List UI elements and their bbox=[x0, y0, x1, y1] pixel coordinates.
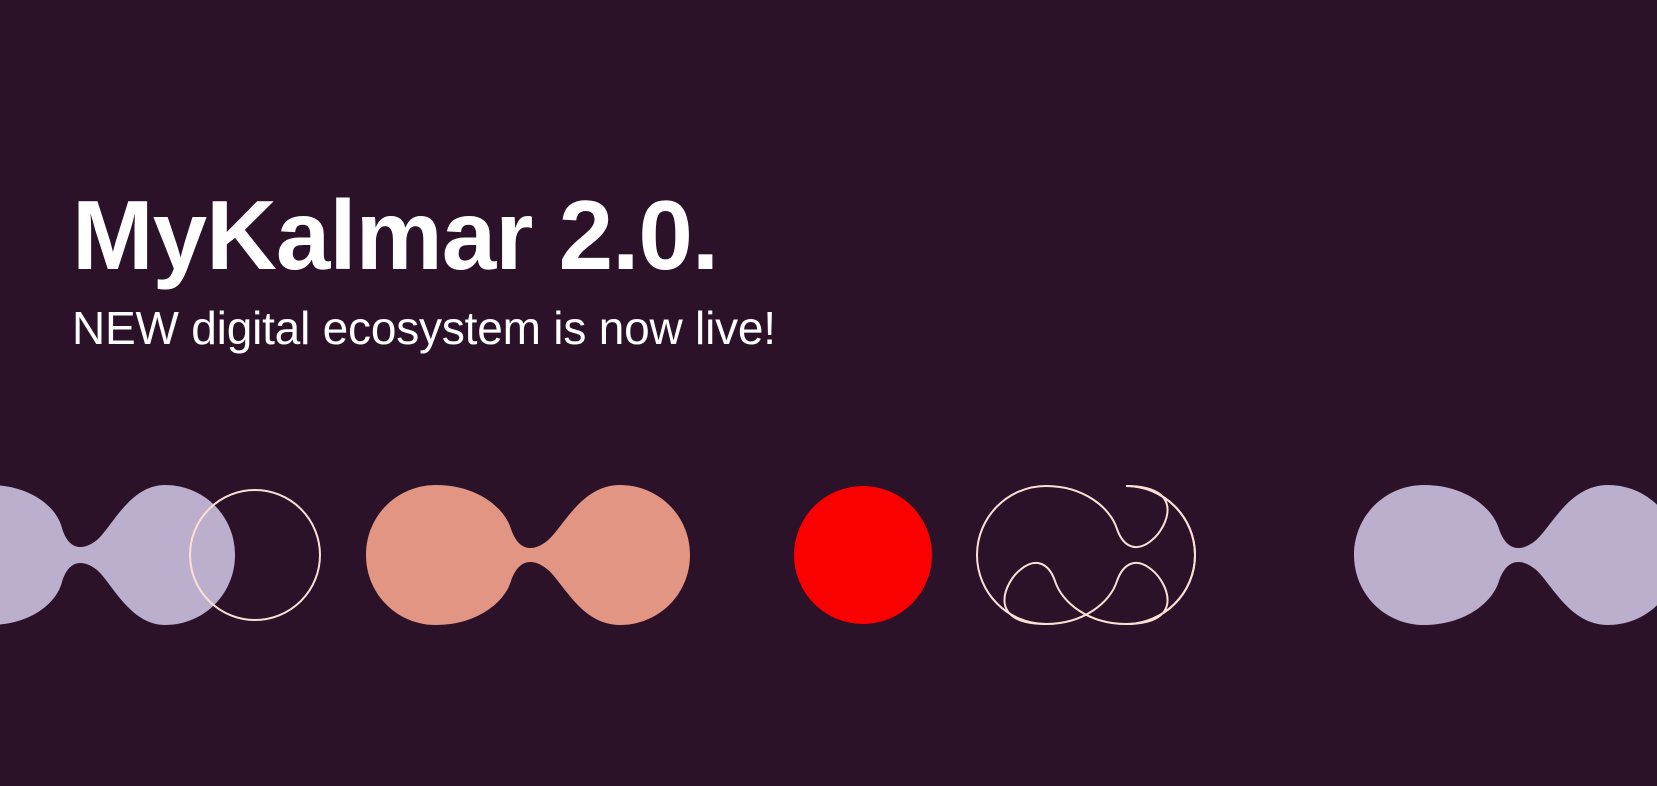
page-title: MyKalmar 2.0. bbox=[72, 186, 776, 284]
shape-row-svg bbox=[0, 0, 1657, 786]
page-subtitle: NEW digital ecosystem is now live! bbox=[72, 300, 776, 358]
peanut-lavender-left-shape bbox=[0, 485, 235, 625]
headline-block: MyKalmar 2.0. NEW digital ecosystem is n… bbox=[72, 186, 776, 358]
peanut-salmon-center-shape bbox=[366, 485, 690, 625]
mykalmar-banner: MyKalmar 2.0. NEW digital ecosystem is n… bbox=[0, 0, 1657, 786]
peanut-outline-right-shape bbox=[977, 486, 1195, 624]
decorative-shape-row bbox=[0, 0, 1657, 786]
circle-red-solid-shape bbox=[794, 486, 932, 624]
peanut-lavender-right-shape bbox=[1354, 485, 1657, 625]
peanut-outline-right-shape-lobe2 bbox=[1004, 486, 1195, 624]
circle-outline-left-shape bbox=[190, 490, 320, 620]
